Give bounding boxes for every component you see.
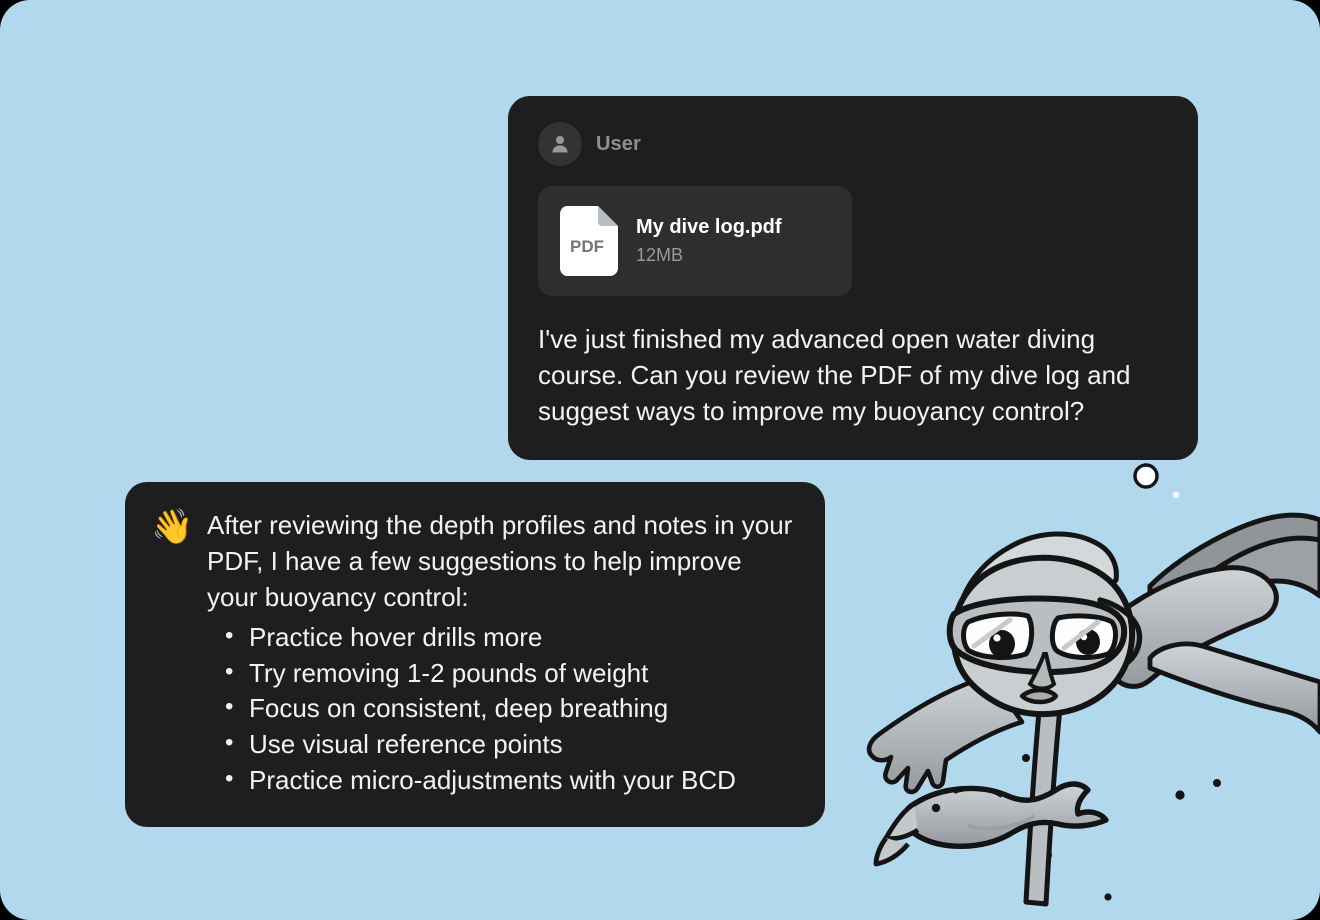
- air-bubbles-group: [950, 408, 1221, 901]
- avatar: [538, 122, 582, 166]
- assistant-intro-text: After reviewing the depth profiles and n…: [207, 508, 797, 616]
- snorkeler-right-arm: [1150, 644, 1320, 732]
- attachment-size: 12MB: [636, 245, 782, 266]
- list-item: Focus on consistent, deep breathing: [207, 691, 797, 727]
- snorkeler-torso: [1109, 515, 1320, 686]
- assistant-message-body: After reviewing the depth profiles and n…: [207, 508, 797, 799]
- waving-hand-emoji: 👋: [151, 508, 195, 546]
- list-item: Practice hover drills more: [207, 620, 797, 656]
- message-author: User: [596, 133, 641, 156]
- suggestion-list: Practice hover drills more Try removing …: [207, 620, 797, 799]
- snorkeler-left-arm: [869, 676, 1022, 792]
- snorkeler-head: [950, 534, 1140, 714]
- screenshot-canvas: User PDF My dive log.pdf 12MB I've just …: [0, 0, 1320, 920]
- list-item: Use visual reference points: [207, 727, 797, 763]
- user-message-bubble: User PDF My dive log.pdf 12MB I've just …: [508, 96, 1198, 460]
- list-item: Practice micro-adjustments with your BCD: [207, 763, 797, 799]
- user-message-text: I've just finished my advanced open wate…: [538, 322, 1168, 430]
- pdf-icon-label: PDF: [570, 237, 604, 256]
- snorkel-tube: [1026, 616, 1080, 904]
- assistant-message-row: 👋 After reviewing the depth profiles and…: [151, 508, 797, 799]
- fish: [876, 784, 1106, 864]
- pdf-file-icon: PDF: [560, 206, 618, 276]
- person-icon: [548, 132, 572, 156]
- list-item: Try removing 1-2 pounds of weight: [207, 656, 797, 692]
- snorkeler-underwater-illustration: [850, 400, 1320, 920]
- attachment-meta: My dive log.pdf 12MB: [636, 216, 782, 266]
- assistant-message-bubble: 👋 After reviewing the depth profiles and…: [125, 482, 825, 827]
- attachment-name: My dive log.pdf: [636, 216, 782, 239]
- attachment-card[interactable]: PDF My dive log.pdf 12MB: [538, 186, 852, 296]
- user-message-header: User: [538, 122, 1168, 166]
